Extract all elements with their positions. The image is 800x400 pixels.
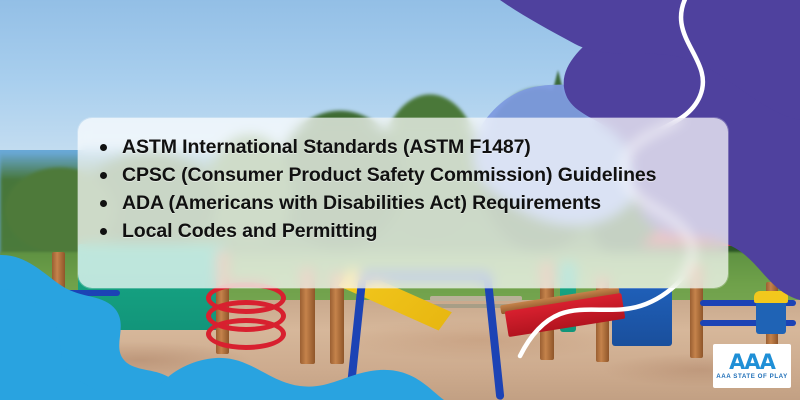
list-item-label: Local Codes and Permitting: [122, 220, 377, 242]
logo-wordmark: AAA STATE OF PLAY: [716, 373, 788, 381]
list-item-label: ASTM International Standards (ASTM F1487…: [122, 136, 531, 158]
climbing-bar: [0, 318, 120, 324]
climbing-bar: [0, 290, 120, 296]
list-item: Local Codes and Permitting: [122, 218, 710, 245]
bullet-icon: [100, 172, 107, 179]
trash-bin: [756, 300, 786, 334]
list-item: ADA (Americans with Disabilities Act) Re…: [122, 190, 710, 217]
park-bench: [430, 296, 522, 301]
content-card: ASTM International Standards (ASTM F1487…: [78, 118, 728, 288]
brand-logo: AAA AAA STATE OF PLAY: [713, 344, 791, 388]
logo-mark-icon: AAA: [729, 352, 775, 372]
wooden-post: [52, 252, 65, 352]
list-item: ASTM International Standards (ASTM F1487…: [122, 134, 710, 161]
list-item-label: ADA (Americans with Disabilities Act) Re…: [122, 192, 601, 214]
spiral-climber: [206, 318, 286, 350]
bullet-icon: [100, 144, 107, 151]
requirements-list: ASTM International Standards (ASTM F1487…: [78, 118, 728, 245]
list-item: CPSC (Consumer Product Safety Commission…: [122, 162, 710, 189]
bullet-icon: [100, 228, 107, 235]
bullet-icon: [100, 200, 107, 207]
slide-canvas: ASTM International Standards (ASTM F1487…: [0, 0, 800, 400]
list-item-label: CPSC (Consumer Product Safety Commission…: [122, 164, 656, 186]
